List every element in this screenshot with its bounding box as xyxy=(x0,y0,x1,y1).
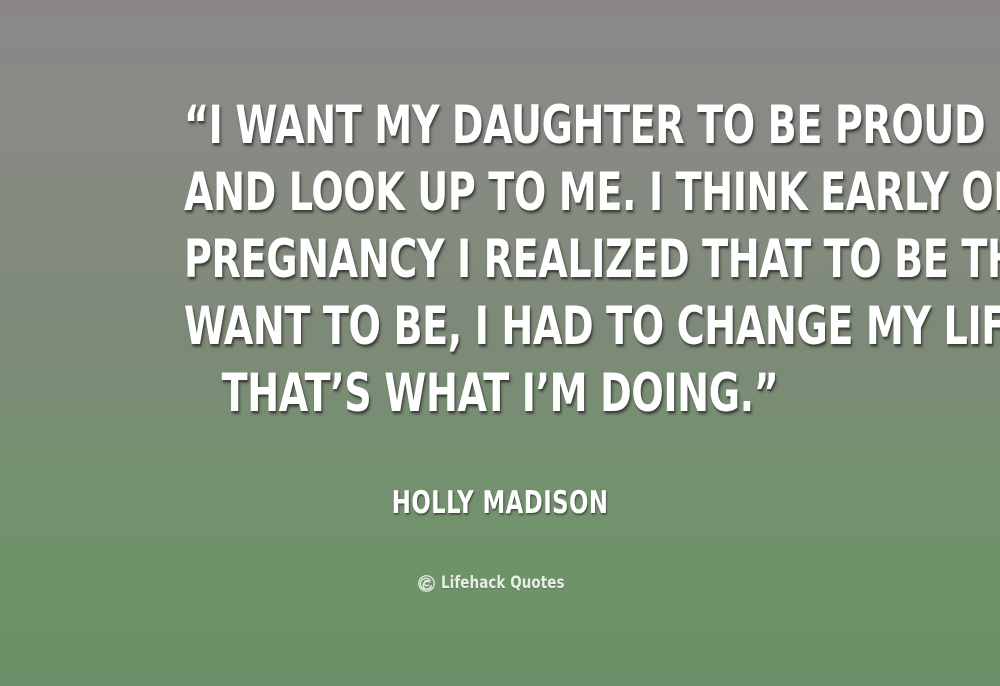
quote-line: THAT’S WHAT I’M DOING.” xyxy=(184,360,816,427)
quote-card: “I WANT MY DAUGHTER TO BE PROUD OF ME AN… xyxy=(0,0,1000,686)
quote-text: “I WANT MY DAUGHTER TO BE PROUD OF ME AN… xyxy=(184,92,816,427)
quote-line: PREGNANCY I REALIZED THAT TO BE THE MOM … xyxy=(184,226,816,293)
lifehack-circle-logo-icon xyxy=(418,575,435,592)
quote-author: HOLLY MADISON xyxy=(392,485,609,521)
brand-name: Lifehack Quotes xyxy=(441,573,565,593)
brand-footer: Lifehack Quotes xyxy=(418,573,581,593)
quote-line: AND LOOK UP TO ME. I THINK EARLY ON IN M… xyxy=(184,159,816,226)
quote-line: WANT TO BE, I HAD TO CHANGE MY LIFE, AND xyxy=(184,293,816,360)
quote-line: “I WANT MY DAUGHTER TO BE PROUD OF ME xyxy=(184,92,816,159)
